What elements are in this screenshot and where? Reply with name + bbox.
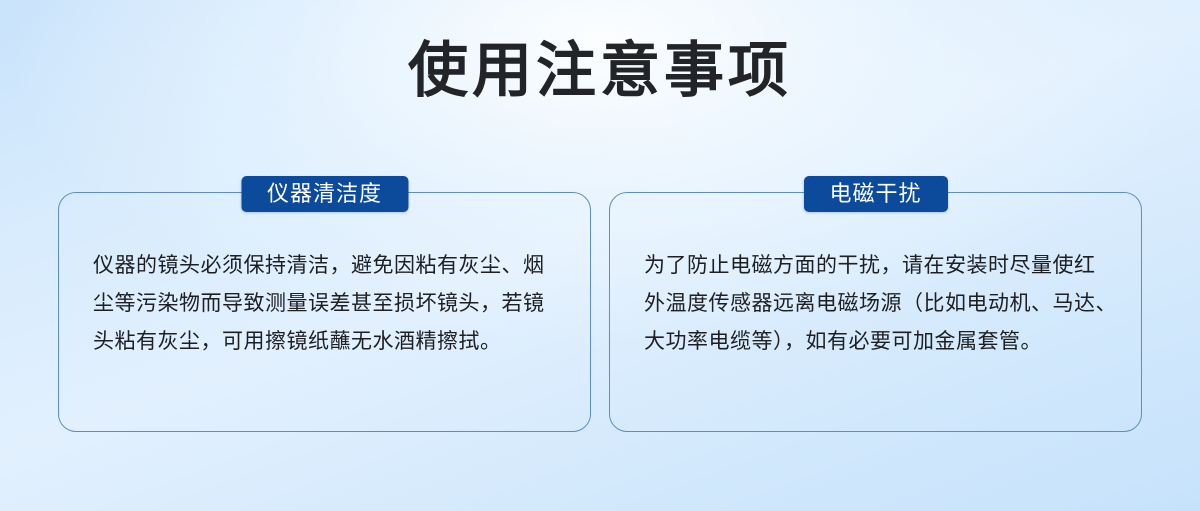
notice-page: 使用注意事项 仪器清洁度 仪器的镜头必须保持清洁，避免因粘有灰尘、烟 尘等污染物… bbox=[0, 0, 1200, 511]
card-body-line: 头粘有灰尘，可用擦镜纸蘸无水酒精擦拭。 bbox=[93, 323, 556, 361]
card-body-emi: 为了防止电磁方面的干扰，请在安装时尽量使红 外温度传感器远离电磁场源（比如电动机… bbox=[644, 247, 1107, 361]
page-title-wrap: 使用注意事项 bbox=[0, 38, 1200, 104]
card-badge-emi: 电磁干扰 bbox=[803, 176, 947, 212]
notice-card-emi: 电磁干扰 为了防止电磁方面的干扰，请在安装时尽量使红 外温度传感器远离电磁场源（… bbox=[609, 192, 1142, 432]
card-body-line: 仪器的镜头必须保持清洁，避免因粘有灰尘、烟 bbox=[93, 247, 556, 285]
card-body-cleanliness: 仪器的镜头必须保持清洁，避免因粘有灰尘、烟 尘等污染物而导致测量误差甚至损坏镜头… bbox=[93, 247, 556, 361]
card-body-line: 为了防止电磁方面的干扰，请在安装时尽量使红 bbox=[644, 247, 1107, 285]
notice-card-row: 仪器清洁度 仪器的镜头必须保持清洁，避免因粘有灰尘、烟 尘等污染物而导致测量误差… bbox=[58, 192, 1142, 432]
card-body-line: 尘等污染物而导致测量误差甚至损坏镜头，若镜 bbox=[93, 285, 556, 323]
page-title: 使用注意事项 bbox=[408, 38, 792, 104]
card-badge-cleanliness: 仪器清洁度 bbox=[241, 176, 408, 212]
card-body-line: 大功率电缆等），如有必要可加金属套管。 bbox=[644, 323, 1107, 361]
notice-card-cleanliness: 仪器清洁度 仪器的镜头必须保持清洁，避免因粘有灰尘、烟 尘等污染物而导致测量误差… bbox=[58, 192, 591, 432]
card-body-line: 外温度传感器远离电磁场源（比如电动机、马达、 bbox=[644, 285, 1107, 323]
